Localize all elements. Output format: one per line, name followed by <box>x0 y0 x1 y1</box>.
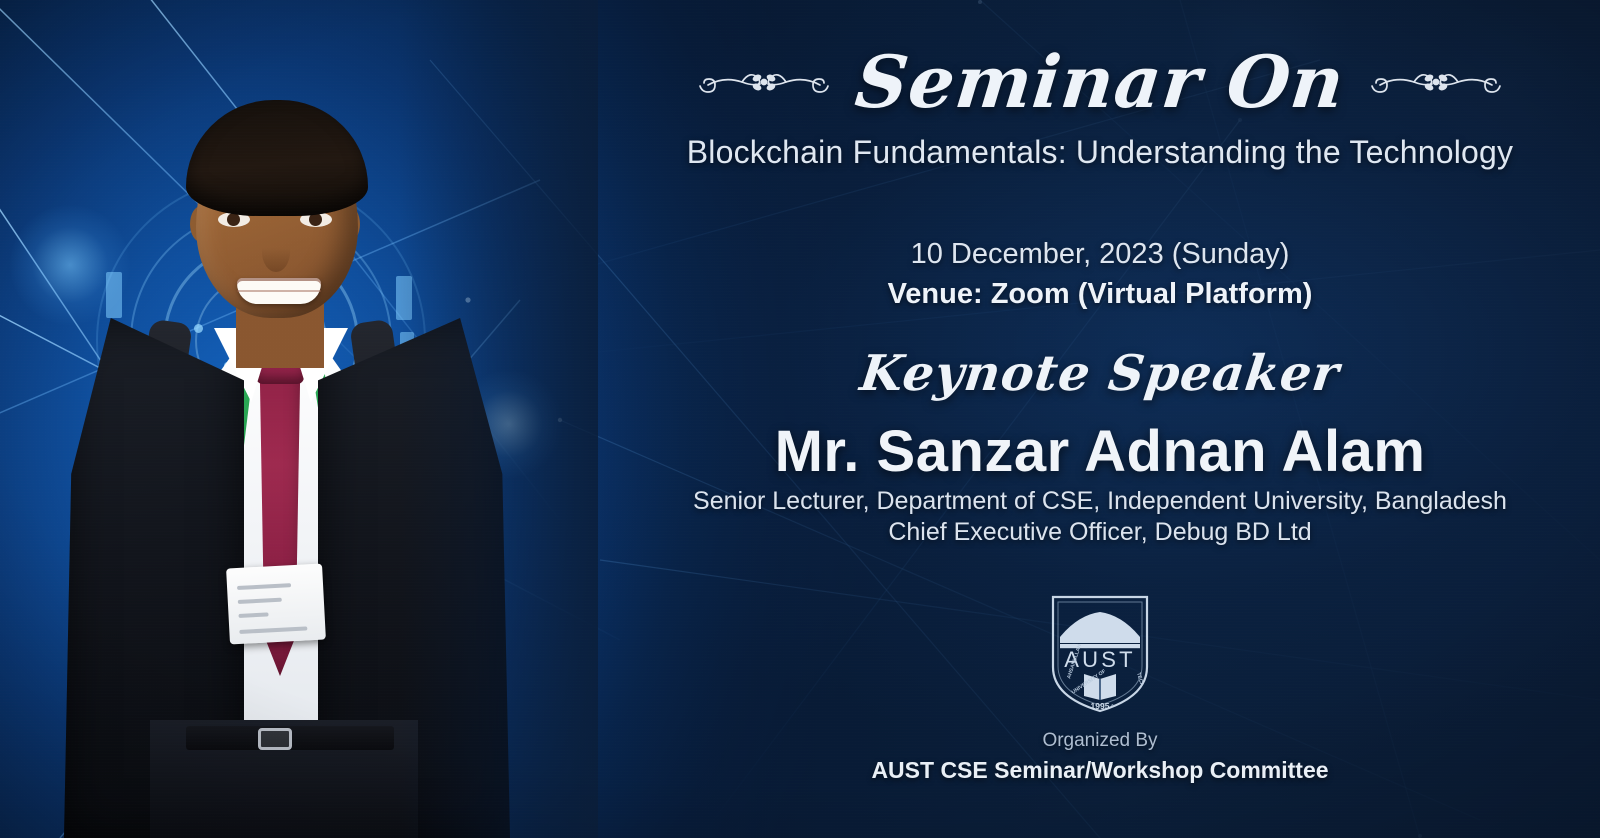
seminar-subtitle: Blockchain Fundamentals: Understanding t… <box>600 134 1600 171</box>
logo-container: AUST 1995 AHSANULLAH TECHNOLOGY UNIVERSI… <box>600 593 1600 715</box>
filigree-flourish-left-icon <box>694 60 834 104</box>
seminar-poster: Seminar On <box>0 0 1600 838</box>
page-title: Seminar On <box>852 46 1348 118</box>
speaker-affiliation-primary: Senior Lecturer, Department of CSE, Inde… <box>600 487 1600 516</box>
speaker-affiliation-secondary: Chief Executive Officer, Debug BD Ltd <box>600 518 1600 547</box>
aust-logo-icon: AUST 1995 AHSANULLAH TECHNOLOGY UNIVERSI… <box>1048 593 1152 715</box>
organized-by-label: Organized By <box>600 730 1600 752</box>
event-venue: Venue: Zoom (Virtual Platform) <box>600 278 1600 311</box>
poster-content: Seminar On <box>600 0 1600 838</box>
speaker-name: Mr. Sanzar Adnan Alam <box>600 418 1600 485</box>
organizer-name: AUST CSE Seminar/Workshop Committee <box>600 757 1600 784</box>
aust-arc-bottom2-text: SCIENCE & <box>1109 704 1137 715</box>
keynote-speaker-label: Keynote Speaker <box>596 344 1600 402</box>
title-row: Seminar On <box>600 46 1600 118</box>
event-date: 10 December, 2023 (Sunday) <box>600 238 1600 271</box>
filigree-flourish-right-icon <box>1366 60 1506 104</box>
